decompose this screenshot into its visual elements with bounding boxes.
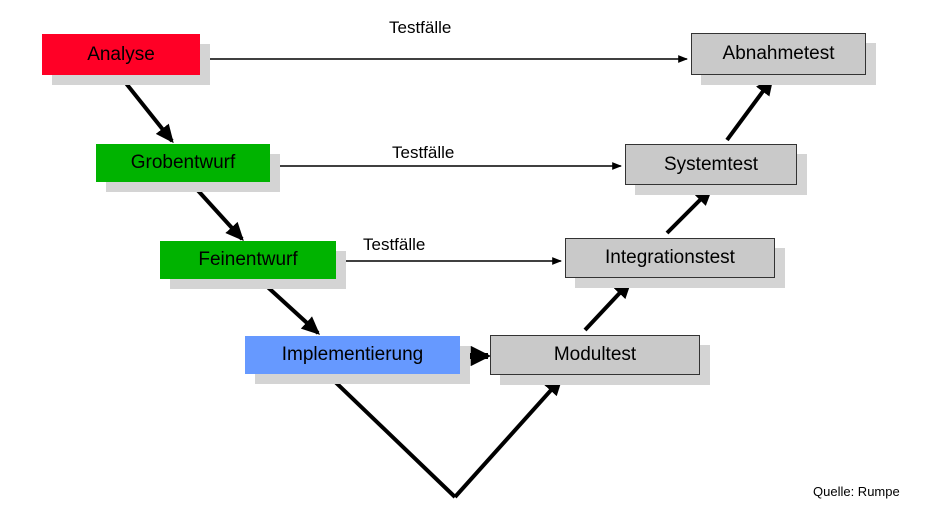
phase-box-grobentwurf[interactable]: Grobentwurf — [96, 144, 270, 182]
test-box-modultest[interactable]: Modultest — [490, 335, 700, 375]
source-note: Quelle: Rumpe — [813, 484, 900, 499]
phase-box-analyse[interactable]: Analyse — [42, 34, 200, 75]
phase-label-analyse: Analyse — [87, 45, 155, 65]
phase-label-implementierung: Implementierung — [282, 345, 424, 365]
connector-implementierung-to-vertex — [328, 375, 455, 497]
test-box-integrationstest[interactable]: Integrationstest — [565, 238, 775, 278]
connector-modultest-to-integrationstest — [585, 282, 630, 330]
test-label-modultest: Modultest — [554, 345, 636, 365]
connector-vertex-to-modultest — [455, 379, 561, 497]
edge-label-testfaelle-grobentwurf: Testfälle — [392, 143, 454, 163]
phase-box-feinentwurf[interactable]: Feinentwurf — [160, 241, 336, 279]
edge-label-testfaelle-analyse: Testfälle — [389, 18, 451, 38]
test-box-systemtest[interactable]: Systemtest — [625, 144, 797, 185]
phase-label-grobentwurf: Grobentwurf — [131, 153, 236, 173]
edge-label-testfaelle-feinentwurf: Testfälle — [363, 235, 425, 255]
phase-label-feinentwurf: Feinentwurf — [198, 250, 297, 270]
connector-systemtest-to-abnahmetest — [727, 79, 772, 140]
test-label-integrationstest: Integrationstest — [605, 248, 735, 268]
phase-box-implementierung[interactable]: Implementierung — [245, 336, 460, 374]
test-label-systemtest: Systemtest — [664, 155, 758, 175]
test-box-abnahmetest[interactable]: Abnahmetest — [691, 33, 866, 75]
connector-analyse-to-grobentwurf — [121, 77, 172, 141]
connector-integrationstest-to-systemtest — [667, 189, 711, 233]
test-label-abnahmetest: Abnahmetest — [723, 44, 835, 64]
connector-grobentwurf-to-feinentwurf — [192, 184, 242, 239]
v-model-diagram: Analyse Grobentwurf Feinentwurf Implemen… — [0, 0, 951, 517]
